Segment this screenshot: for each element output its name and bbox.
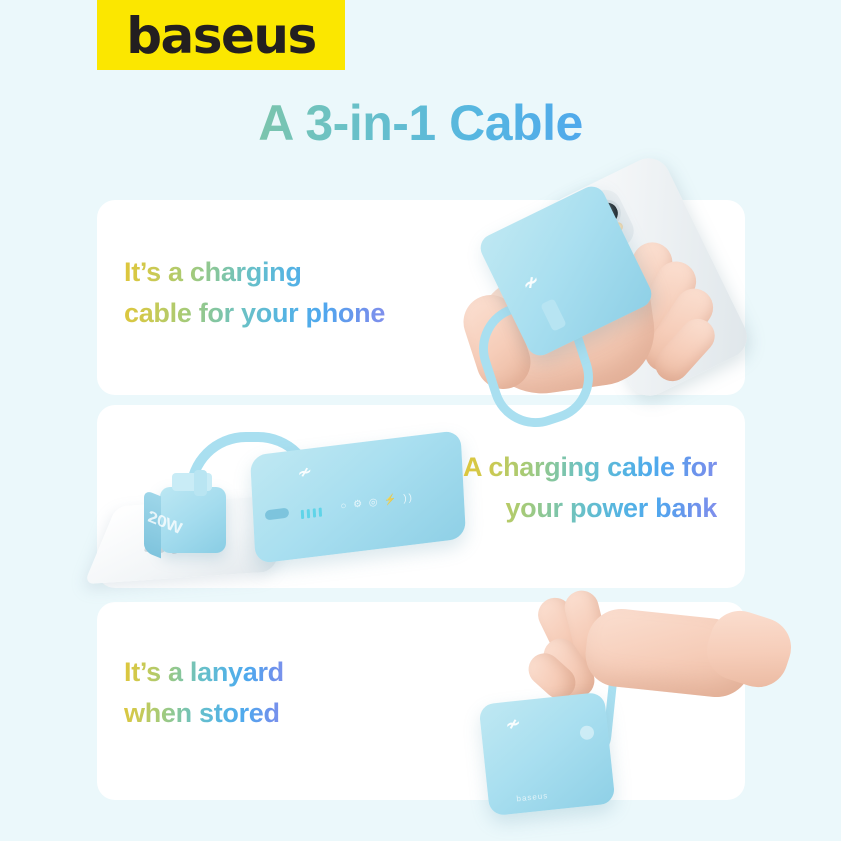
feature-card-lanyard-copy: It’s a lanyard when stored [124, 652, 284, 734]
feature-card-power-bank-copy: A charging cable for your power bank [463, 447, 717, 529]
power-bank-logo-mark: ≁ [296, 465, 310, 483]
led [319, 508, 322, 517]
power-bank-logo-mark: ≁ [504, 715, 520, 733]
page-title: A 3-in-1 Cable [0, 96, 841, 151]
certification-icon-row: ○ ⚙ ◎ ⚡ )) [340, 492, 414, 512]
led [307, 509, 310, 518]
brand-wordmark: baseus [126, 11, 316, 61]
cable-connector-tip [194, 470, 207, 496]
battery-level-leds [301, 508, 322, 520]
wall-charger-illustration: 20W [160, 487, 226, 553]
power-bank-illustration: ≁ baseus [478, 692, 615, 817]
power-bank-logo-mark: ≁ [519, 272, 542, 296]
promo-page: baseus A 3-in-1 Cable It’s a charging ca… [0, 0, 841, 841]
led [313, 508, 316, 517]
usb-c-port [265, 508, 289, 521]
feature-card-phone-copy: It’s a charging cable for your phone [124, 252, 385, 334]
led [301, 510, 304, 519]
power-button [579, 725, 594, 740]
power-bank-footer-mark: baseus [516, 791, 549, 803]
brand-logo-badge: baseus [97, 0, 345, 70]
